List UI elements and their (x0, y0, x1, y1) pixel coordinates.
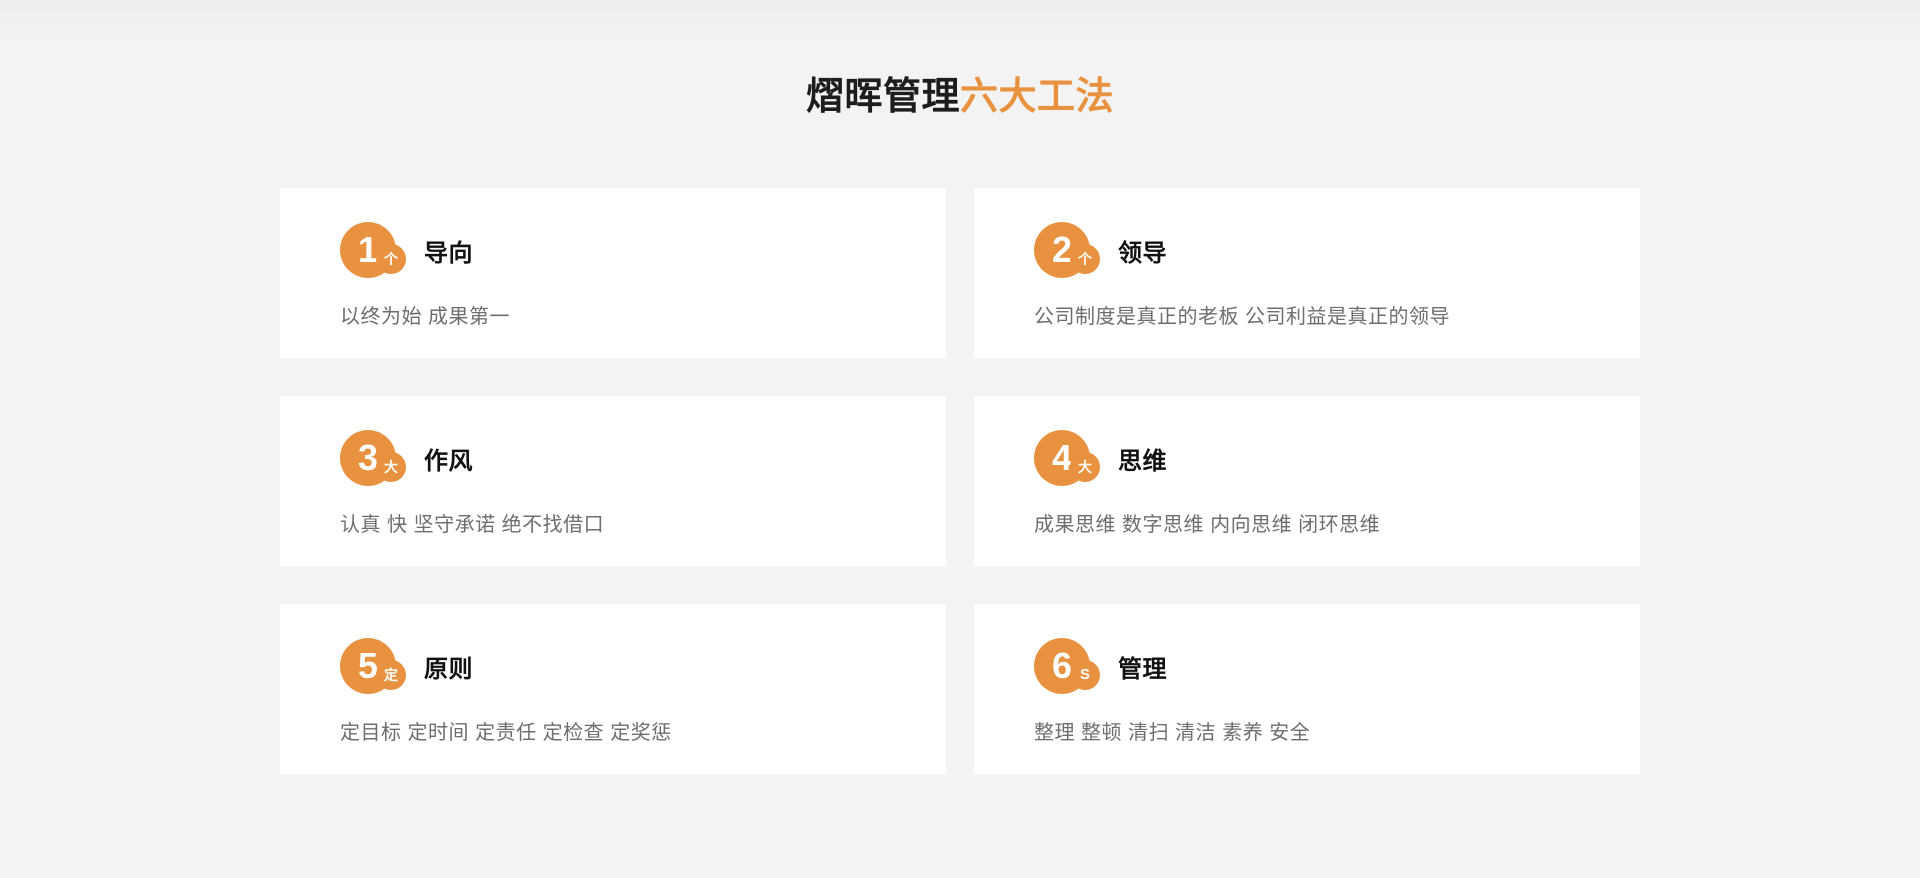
card-title: 思维 (1118, 441, 1167, 476)
badge-unit: 个 (1070, 244, 1100, 274)
page-title-dark: 熠晖管理 (806, 76, 960, 118)
method-card-4[interactable]: 4 大 思维 成果思维 数字思维 内向思维 闭环思维 (974, 396, 1640, 566)
number-badge-icon: 4 大 (1034, 430, 1108, 486)
card-description: 整理 整顿 清扫 清洁 素养 安全 (1034, 716, 1640, 745)
card-header: 5 定 原则 (340, 638, 946, 694)
card-description: 成果思维 数字思维 内向思维 闭环思维 (1034, 508, 1640, 537)
number-badge-icon: 6 S (1034, 638, 1108, 694)
card-description: 认真 快 坚守承诺 绝不找借口 (340, 508, 946, 537)
method-card-2[interactable]: 2 个 领导 公司制度是真正的老板 公司利益是真正的领导 (974, 188, 1640, 358)
top-gradient-band (0, 0, 1920, 42)
card-title: 作风 (424, 441, 473, 476)
method-card-3[interactable]: 3 大 作风 认真 快 坚守承诺 绝不找借口 (280, 396, 946, 566)
badge-unit: 大 (1070, 452, 1100, 482)
badge-unit: 定 (376, 660, 406, 690)
page-root: 熠晖管理六大工法 1 个 导向 以终为始 成果第一 2 个 领导 (0, 0, 1920, 878)
card-description: 以终为始 成果第一 (340, 300, 946, 329)
method-card-grid: 1 个 导向 以终为始 成果第一 2 个 领导 公司制度是真正的老板 公司利益是… (280, 188, 1640, 774)
card-header: 1 个 导向 (340, 222, 946, 278)
method-card-5[interactable]: 5 定 原则 定目标 定时间 定责任 定检查 定奖惩 (280, 604, 946, 774)
number-badge-icon: 5 定 (340, 638, 414, 694)
card-title: 管理 (1118, 649, 1167, 684)
card-header: 4 大 思维 (1034, 430, 1640, 486)
page-title-accent: 六大工法 (960, 76, 1114, 118)
page-title: 熠晖管理六大工法 (0, 78, 1920, 116)
badge-unit: 个 (376, 244, 406, 274)
card-title: 导向 (424, 233, 473, 268)
method-card-1[interactable]: 1 个 导向 以终为始 成果第一 (280, 188, 946, 358)
badge-unit: 大 (376, 452, 406, 482)
number-badge-icon: 3 大 (340, 430, 414, 486)
card-description: 定目标 定时间 定责任 定检查 定奖惩 (340, 716, 946, 745)
card-description: 公司制度是真正的老板 公司利益是真正的领导 (1034, 300, 1640, 329)
method-card-6[interactable]: 6 S 管理 整理 整顿 清扫 清洁 素养 安全 (974, 604, 1640, 774)
card-header: 6 S 管理 (1034, 638, 1640, 694)
card-header: 3 大 作风 (340, 430, 946, 486)
number-badge-icon: 1 个 (340, 222, 414, 278)
card-title: 原则 (424, 649, 473, 684)
card-title: 领导 (1118, 233, 1167, 268)
number-badge-icon: 2 个 (1034, 222, 1108, 278)
card-header: 2 个 领导 (1034, 222, 1640, 278)
badge-unit: S (1070, 660, 1100, 690)
